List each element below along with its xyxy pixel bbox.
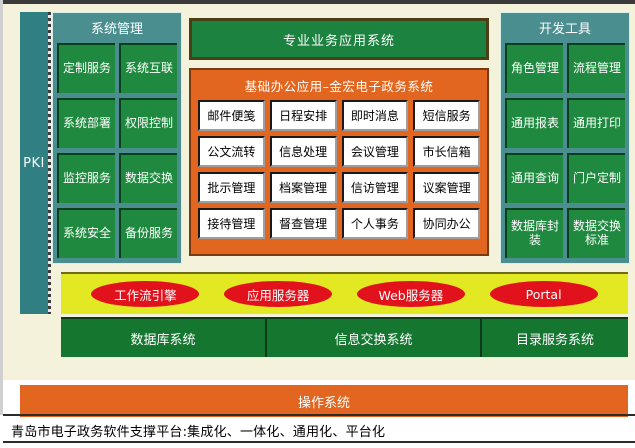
services-row: 数据库系统 信息交换系统 目录服务系统 — [61, 317, 628, 357]
pki-separator-dashed — [48, 12, 51, 314]
development-tool-cell[interactable]: 门户定制 — [567, 153, 625, 203]
architecture-diagram: PKI 系统管理 定制服务 系统互联 系统部署 权限控制 监控服务 数据交换 系… — [3, 4, 635, 380]
office-module-cell[interactable]: 即时消息 — [342, 100, 409, 131]
caption-top-rule — [3, 414, 635, 416]
office-module-cell[interactable]: 档案管理 — [270, 172, 337, 203]
development-tools-grid: 角色管理 流程管理 通用报表 通用打印 通用查询 门户定制 数据库封装 数据交换… — [505, 43, 625, 258]
service-cell[interactable]: 信息交换系统 — [267, 319, 482, 357]
development-tool-cell[interactable]: 流程管理 — [567, 43, 625, 93]
system-management-grid: 定制服务 系统互联 系统部署 权限控制 监控服务 数据交换 系统安全 备份服务 — [57, 43, 177, 258]
office-module-cell[interactable]: 督查管理 — [270, 208, 337, 239]
office-application-panel: 基础办公应用–金宏电子政务系统 邮件便笺 日程安排 即时消息 短信服务 公文流转… — [189, 68, 489, 256]
system-management-panel: 系统管理 定制服务 系统互联 系统部署 权限控制 监控服务 数据交换 系统安全 … — [52, 12, 182, 264]
pki-bar: PKI — [20, 12, 48, 314]
office-module-cell[interactable]: 个人事务 — [342, 208, 409, 239]
office-module-cell[interactable]: 信息处理 — [270, 136, 337, 167]
office-module-cell[interactable]: 邮件便笺 — [198, 100, 265, 131]
middleware-item-label: 应用服务器 — [247, 285, 310, 304]
system-management-title: 系统管理 — [53, 18, 181, 37]
system-management-cell[interactable]: 权限控制 — [119, 98, 177, 148]
middleware-item[interactable]: Portal — [490, 281, 598, 307]
professional-application-bar: 专业业务应用系统 — [189, 18, 489, 60]
operating-system-label: 操作系统 — [298, 392, 350, 411]
development-tool-cell[interactable]: 通用报表 — [505, 98, 563, 148]
development-tools-panel: 开发工具 角色管理 流程管理 通用报表 通用打印 通用查询 门户定制 数据库封装… — [500, 12, 630, 264]
pki-label: PKI — [23, 156, 45, 171]
office-module-cell[interactable]: 协同办公 — [413, 208, 480, 239]
development-tool-cell[interactable]: 通用打印 — [567, 98, 625, 148]
service-cell[interactable]: 目录服务系统 — [482, 319, 628, 357]
diagram-canvas: PKI 系统管理 定制服务 系统互联 系统部署 权限控制 监控服务 数据交换 系… — [0, 0, 635, 448]
office-application-grid: 邮件便笺 日程安排 即时消息 短信服务 公文流转 信息处理 会议管理 市长信箱 … — [198, 100, 480, 239]
system-management-cell[interactable]: 系统互联 — [119, 43, 177, 93]
office-module-cell[interactable]: 短信服务 — [413, 100, 480, 131]
office-module-cell[interactable]: 市长信箱 — [413, 136, 480, 167]
office-application-title: 基础办公应用–金宏电子政务系统 — [191, 76, 487, 95]
diagram-caption: 青岛市电子政务软件支撑平台:集成化、一体化、通用化、平台化 — [11, 419, 631, 441]
middleware-item[interactable]: Web服务器 — [357, 281, 465, 307]
system-management-cell[interactable]: 系统安全 — [57, 208, 115, 258]
office-module-cell[interactable]: 会议管理 — [342, 136, 409, 167]
office-module-cell[interactable]: 接待管理 — [198, 208, 265, 239]
professional-application-label: 专业业务应用系统 — [283, 30, 395, 49]
middleware-item-label: Web服务器 — [378, 285, 443, 304]
development-tool-cell[interactable]: 角色管理 — [505, 43, 563, 93]
system-management-cell[interactable]: 定制服务 — [57, 43, 115, 93]
operating-system-bar: 操作系统 — [20, 385, 628, 417]
development-tools-title: 开发工具 — [501, 18, 629, 37]
caption-bottom-rule — [3, 441, 635, 443]
middleware-item[interactable]: 应用服务器 — [224, 281, 332, 307]
middleware-item-label: Portal — [526, 287, 562, 302]
middleware-item[interactable]: 工作流引擎 — [91, 281, 199, 307]
office-module-cell[interactable]: 公文流转 — [198, 136, 265, 167]
center-column: 专业业务应用系统 基础办公应用–金宏电子政务系统 邮件便笺 日程安排 即时消息 … — [183, 12, 497, 262]
office-module-cell[interactable]: 议案管理 — [413, 172, 480, 203]
office-module-cell[interactable]: 日程安排 — [270, 100, 337, 131]
system-management-cell[interactable]: 数据交换 — [119, 153, 177, 203]
system-management-cell[interactable]: 监控服务 — [57, 153, 115, 203]
development-tool-cell[interactable]: 数据库封装 — [505, 208, 563, 258]
service-cell[interactable]: 数据库系统 — [61, 319, 267, 357]
middleware-band: 工作流引擎 应用服务器 Web服务器 Portal — [61, 272, 628, 314]
development-tool-cell[interactable]: 通用查询 — [505, 153, 563, 203]
system-management-cell[interactable]: 系统部署 — [57, 98, 115, 148]
office-module-cell[interactable]: 信访管理 — [342, 172, 409, 203]
middleware-item-label: 工作流引擎 — [114, 285, 177, 304]
office-module-cell[interactable]: 批示管理 — [198, 172, 265, 203]
development-tool-cell[interactable]: 数据交换标准 — [567, 208, 625, 258]
system-management-cell[interactable]: 备份服务 — [119, 208, 177, 258]
